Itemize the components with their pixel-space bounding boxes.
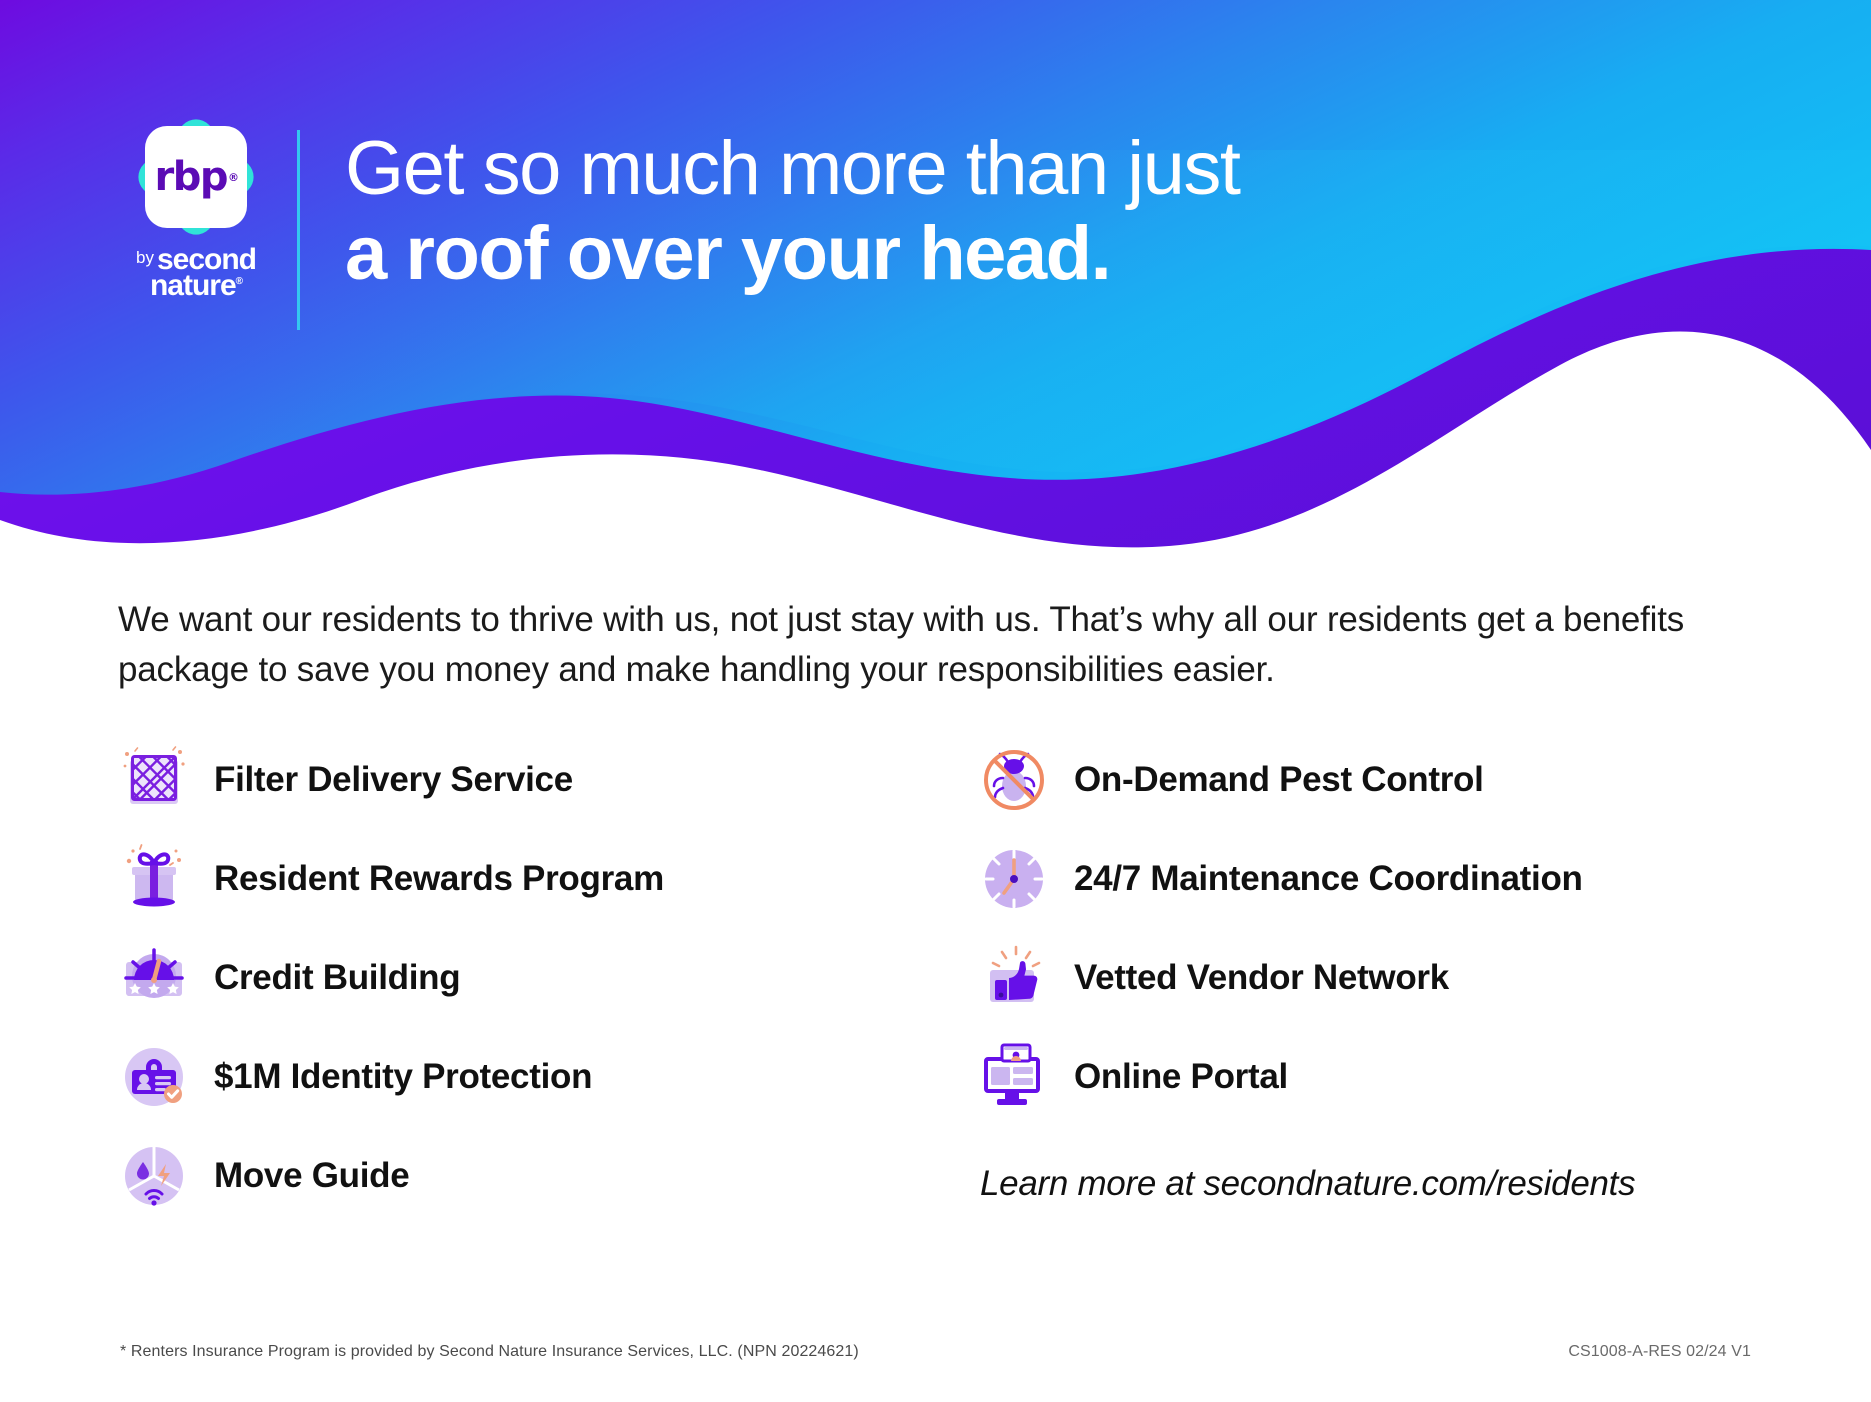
benefit-item-move-guide: Move Guide <box>118 1126 978 1225</box>
byline-registered-mark: ® <box>236 276 242 287</box>
benefit-label: Move Guide <box>214 1156 409 1196</box>
thumbs-up-icon <box>978 942 1050 1014</box>
benefit-label: Credit Building <box>214 958 460 998</box>
benefit-label: Filter Delivery Service <box>214 760 573 800</box>
byline-nature-line: nature® <box>96 272 296 300</box>
benefit-label: Resident Rewards Program <box>214 859 664 899</box>
benefits-grid: Filter Delivery Service <box>118 730 1778 1225</box>
page-headline: Get so much more than just a roof over y… <box>345 126 1240 296</box>
benefit-item-resident-rewards: Resident Rewards Program <box>118 829 978 928</box>
gift-icon <box>118 843 190 915</box>
headline-line-2: a roof over your head. <box>345 211 1240 296</box>
rbp-logo-badge: rbp® <box>137 118 255 236</box>
air-filter-icon <box>118 744 190 816</box>
footer-disclaimer: * Renters Insurance Program is provided … <box>120 1343 859 1361</box>
monitor-portal-icon <box>978 1041 1050 1113</box>
brand-logo-lockup: rbp® bysecond nature® <box>96 118 296 308</box>
benefit-label: 24/7 Maintenance Coordination <box>1074 859 1583 899</box>
benefit-label: Online Portal <box>1074 1057 1288 1097</box>
benefit-item-filter-delivery: Filter Delivery Service <box>118 730 978 829</box>
benefit-item-maintenance: 24/7 Maintenance Coordination <box>978 829 1778 928</box>
byline-nature-text: nature <box>150 269 236 302</box>
byline-by-text: by <box>136 250 154 266</box>
header-vertical-divider <box>297 130 300 330</box>
benefit-label: Vetted Vendor Network <box>1074 958 1449 998</box>
headline-line-1: Get so much more than just <box>345 126 1240 211</box>
benefits-left-column: Filter Delivery Service <box>118 730 978 1225</box>
rbp-wordmark-text: rbp <box>155 154 228 200</box>
benefit-item-credit-building: Credit Building <box>118 928 978 1027</box>
header-banner: rbp® bysecond nature® Get so much more t… <box>0 0 1871 560</box>
benefit-item-pest-control: On-Demand Pest Control <box>978 730 1778 829</box>
benefit-item-online-portal: Online Portal <box>978 1027 1778 1126</box>
rbp-wordmark: rbp® <box>137 118 255 236</box>
benefit-item-identity-protection: $1M Identity Protection <box>118 1027 978 1126</box>
intro-paragraph: We want our residents to thrive with us,… <box>118 595 1738 695</box>
benefits-right-column: On-Demand Pest Control 24/7 <box>978 730 1778 1225</box>
footer-document-code: CS1008-A-RES 02/24 V1 <box>1568 1343 1751 1361</box>
no-pest-icon <box>978 744 1050 816</box>
benefit-item-vendor-network: Vetted Vendor Network <box>978 928 1778 1027</box>
rbp-registered-mark: ® <box>228 171 238 184</box>
credit-gauge-icon <box>118 942 190 1014</box>
id-badge-shield-icon <box>118 1041 190 1113</box>
benefit-label: On-Demand Pest Control <box>1074 760 1484 800</box>
learn-more-cta[interactable]: Learn more at secondnature.com/residents <box>980 1164 1778 1204</box>
benefit-label: $1M Identity Protection <box>214 1057 592 1097</box>
clock-icon <box>978 843 1050 915</box>
second-nature-byline: bysecond nature® <box>96 246 296 299</box>
utilities-wheel-icon <box>118 1140 190 1212</box>
